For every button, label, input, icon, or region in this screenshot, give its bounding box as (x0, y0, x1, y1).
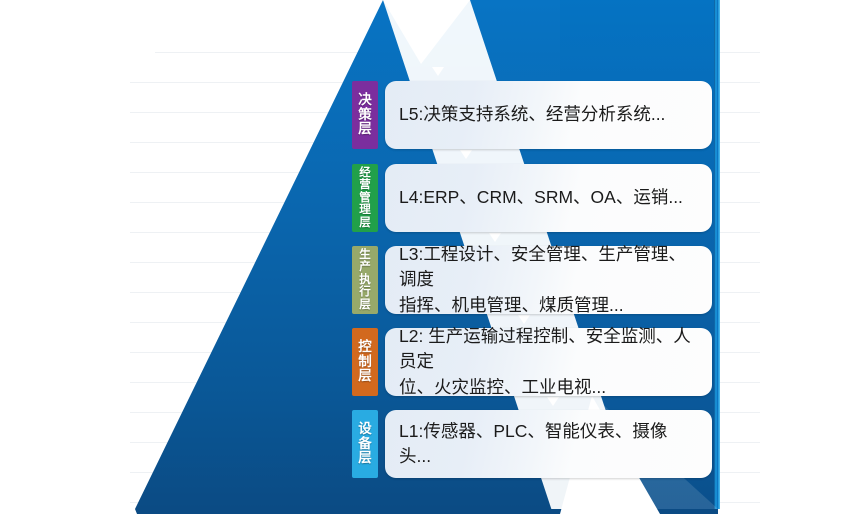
level-row-l5[interactable]: 决 策 层 L5:决策支持系统、经营分析系统... (352, 81, 712, 149)
level-row-l3[interactable]: 生 产 执 行 层 L3:工程设计、安全管理、生产管理、调度 指挥、机电管理、煤… (352, 246, 712, 314)
level-tab-char: 营 (359, 179, 371, 191)
level-rows: 决 策 层 L5:决策支持系统、经营分析系统... 经 营 管 理 层 L4:E… (0, 0, 856, 514)
level-tab-char: 设 (358, 422, 372, 437)
level-tab-char: 产 (359, 261, 371, 273)
level-tab-char: 层 (359, 299, 371, 311)
level-text-l4: L4:ERP、CRM、SRM、OA、运销... (399, 185, 683, 210)
level-row-l1[interactable]: 设 备 层 L1:传感器、PLC、智能仪表、摄像头... (352, 410, 712, 478)
level-tab-char: 行 (359, 286, 371, 298)
level-text-l2: L2: 生产运输过程控制、安全监测、人员定 位、火灾监控、工业电视... (399, 324, 698, 400)
level-tab-l4: 经 营 管 理 层 (352, 164, 378, 232)
level-tab-char: 层 (358, 369, 372, 384)
level-tab-l3: 生 产 执 行 层 (352, 246, 378, 314)
level-box-l5[interactable]: L5:决策支持系统、经营分析系统... (385, 81, 712, 149)
level-tab-char: 决 (358, 93, 372, 108)
level-tab-char: 层 (359, 217, 371, 229)
level-row-l2[interactable]: 控 制 层 L2: 生产运输过程控制、安全监测、人员定 位、火灾监控、工业电视.… (352, 328, 712, 396)
level-text-l3: L3:工程设计、安全管理、生产管理、调度 指挥、机电管理、煤质管理... (399, 242, 698, 318)
level-tab-l5: 决 策 层 (352, 81, 378, 149)
level-text-l1: L1:传感器、PLC、智能仪表、摄像头... (399, 419, 698, 470)
level-box-l3[interactable]: L3:工程设计、安全管理、生产管理、调度 指挥、机电管理、煤质管理... (385, 246, 712, 314)
level-text-l5: L5:决策支持系统、经营分析系统... (399, 102, 665, 127)
level-tab-char: 执 (359, 274, 371, 286)
level-row-l4[interactable]: 经 营 管 理 层 L4:ERP、CRM、SRM、OA、运销... (352, 164, 712, 232)
level-tab-l1: 设 备 层 (352, 410, 378, 478)
level-tab-char: 理 (359, 204, 371, 216)
level-box-l2[interactable]: L2: 生产运输过程控制、安全监测、人员定 位、火灾监控、工业电视... (385, 328, 712, 396)
level-tab-char: 生 (359, 249, 371, 261)
level-box-l4[interactable]: L4:ERP、CRM、SRM、OA、运销... (385, 164, 712, 232)
level-tab-char: 层 (358, 451, 372, 466)
level-tab-char: 控 (358, 340, 372, 355)
diagram-canvas: 决 策 层 L5:决策支持系统、经营分析系统... 经 营 管 理 层 L4:E… (0, 0, 856, 514)
level-box-l1[interactable]: L1:传感器、PLC、智能仪表、摄像头... (385, 410, 712, 478)
level-tab-char: 层 (358, 122, 372, 137)
level-tab-char: 经 (359, 167, 371, 179)
level-tab-char: 管 (359, 192, 371, 204)
level-tab-l2: 控 制 层 (352, 328, 378, 396)
